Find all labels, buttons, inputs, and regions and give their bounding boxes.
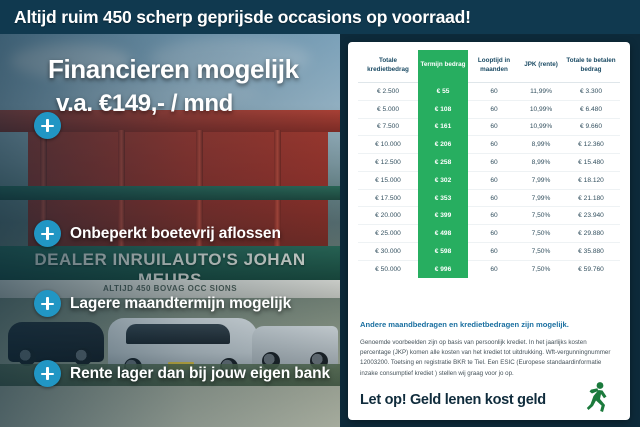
table-cell: 8,99% xyxy=(520,136,562,154)
table-row: € 10.000€ 206608,99%€ 12.360 xyxy=(358,136,620,154)
table-row: € 2.500€ 556011,99%€ 3.300 xyxy=(358,83,620,101)
promo-claims: Financieren mogelijk v.a. €149,- / mnd O… xyxy=(0,38,345,423)
table-cell: 7,50% xyxy=(520,207,562,225)
table-cell: € 23.940 xyxy=(562,207,620,225)
table-cell: € 5.000 xyxy=(358,100,418,118)
table-cell: € 6.480 xyxy=(562,100,620,118)
table-cell: 60 xyxy=(468,154,520,172)
table-cell: € 2.500 xyxy=(358,83,418,101)
col-header-2: Looptijd in maanden xyxy=(468,50,520,83)
table-cell: € 498 xyxy=(418,225,468,243)
table-cell: 60 xyxy=(468,100,520,118)
table-row: € 5.000€ 1086010,99%€ 6.480 xyxy=(358,100,620,118)
col-header-1: Termijn bedrag xyxy=(418,50,468,83)
table-cell: € 20.000 xyxy=(358,207,418,225)
table-cell: € 7.500 xyxy=(358,118,418,136)
table-cell: € 59.760 xyxy=(562,260,620,277)
col-header-3: JPK (rente) xyxy=(520,50,562,83)
table-row: € 7.500€ 1616010,99%€ 9.660 xyxy=(358,118,620,136)
disclaimer-body: Genoemde voorbeelden zijn op basis van p… xyxy=(360,338,618,379)
table-cell: € 15.000 xyxy=(358,171,418,189)
table-cell: 10,99% xyxy=(520,100,562,118)
table-header-row: Totale kredietbedrag Termijn bedrag Loop… xyxy=(358,50,620,83)
promo-subhead: v.a. €149,- / mnd xyxy=(56,90,346,118)
table-row: € 50.000€ 996607,50%€ 59.760 xyxy=(358,260,620,277)
table-cell: 60 xyxy=(468,243,520,261)
table-cell: € 353 xyxy=(418,189,468,207)
table-cell: € 30.000 xyxy=(358,243,418,261)
table-cell: € 12.360 xyxy=(562,136,620,154)
table-cell: 60 xyxy=(468,118,520,136)
table-cell: € 598 xyxy=(418,243,468,261)
plus-icon xyxy=(34,290,61,317)
plus-icon xyxy=(34,112,61,139)
table-cell: € 35.880 xyxy=(562,243,620,261)
table-cell: € 10.000 xyxy=(358,136,418,154)
table-cell: 60 xyxy=(468,171,520,189)
walking-person-icon xyxy=(580,380,614,414)
plus-icon xyxy=(34,220,61,247)
table-cell: € 258 xyxy=(418,154,468,172)
bullet-row-1: Onbeperkt boetevrij aflossen xyxy=(34,220,281,247)
bullet-label: Rente lager dan bij jouw eigen bank xyxy=(70,365,330,383)
table-row: € 25.000€ 498607,50%€ 29.880 xyxy=(358,225,620,243)
table-cell: € 399 xyxy=(418,207,468,225)
bullet-label: Onbeperkt boetevrij aflossen xyxy=(70,225,281,243)
table-cell: 60 xyxy=(468,83,520,101)
table-cell: 60 xyxy=(468,225,520,243)
table-cell: € 50.000 xyxy=(358,260,418,277)
table-cell: 60 xyxy=(468,136,520,154)
table-cell: 60 xyxy=(468,189,520,207)
table-cell: € 25.000 xyxy=(358,225,418,243)
table-cell: 11,99% xyxy=(520,83,562,101)
table-row: € 17.500€ 353607,99%€ 21.180 xyxy=(358,189,620,207)
table-cell: € 12.500 xyxy=(358,154,418,172)
table-row: € 15.000€ 302607,99%€ 18.120 xyxy=(358,171,620,189)
table-cell: € 9.660 xyxy=(562,118,620,136)
table-cell: € 108 xyxy=(418,100,468,118)
bullet-label: Lagere maandtermijn mogelijk xyxy=(70,295,291,313)
table-cell: € 21.180 xyxy=(562,189,620,207)
bullet-icon-row-0 xyxy=(34,112,61,139)
promo-headline: Financieren mogelijk xyxy=(48,56,338,83)
table-row: € 20.000€ 399607,50%€ 23.940 xyxy=(358,207,620,225)
table-row: € 12.500€ 258608,99%€ 15.480 xyxy=(358,154,620,172)
table-cell: € 17.500 xyxy=(358,189,418,207)
table-cell: 60 xyxy=(468,260,520,277)
disclaimer-title: Andere maandbedragen en kredietbedragen … xyxy=(360,320,618,330)
table-cell: 7,50% xyxy=(520,225,562,243)
table-cell: € 3.300 xyxy=(562,83,620,101)
poster: DEALER INRUILAUTO'S JOHAN MEURS ALTIJD 4… xyxy=(0,0,640,427)
rates-table: Totale kredietbedrag Termijn bedrag Loop… xyxy=(358,50,620,278)
table-cell: 8,99% xyxy=(520,154,562,172)
col-header-0: Totale kredietbedrag xyxy=(358,50,418,83)
top-banner-text: Altijd ruim 450 scherp geprijsde occasio… xyxy=(0,7,471,28)
table-cell: 60 xyxy=(468,207,520,225)
table-cell: 7,99% xyxy=(520,171,562,189)
table-cell: € 15.480 xyxy=(562,154,620,172)
table-cell: € 18.120 xyxy=(562,171,620,189)
bullet-row-2: Lagere maandtermijn mogelijk xyxy=(34,290,291,317)
top-banner: Altijd ruim 450 scherp geprijsde occasio… xyxy=(0,0,640,34)
table-cell: 7,50% xyxy=(520,260,562,277)
bullet-row-3: Rente lager dan bij jouw eigen bank xyxy=(34,360,330,387)
col-header-4: Totale te betalen bedrag xyxy=(562,50,620,83)
rates-card: Totale kredietbedrag Termijn bedrag Loop… xyxy=(348,42,630,420)
table-cell: 10,99% xyxy=(520,118,562,136)
table-cell: € 161 xyxy=(418,118,468,136)
table-cell: 7,50% xyxy=(520,243,562,261)
table-cell: € 29.880 xyxy=(562,225,620,243)
table-cell: € 996 xyxy=(418,260,468,277)
plus-icon xyxy=(34,360,61,387)
table-cell: 7,99% xyxy=(520,189,562,207)
table-row: € 30.000€ 598607,50%€ 35.880 xyxy=(358,243,620,261)
table-cell: € 55 xyxy=(418,83,468,101)
table-cell: € 206 xyxy=(418,136,468,154)
table-cell: € 302 xyxy=(418,171,468,189)
